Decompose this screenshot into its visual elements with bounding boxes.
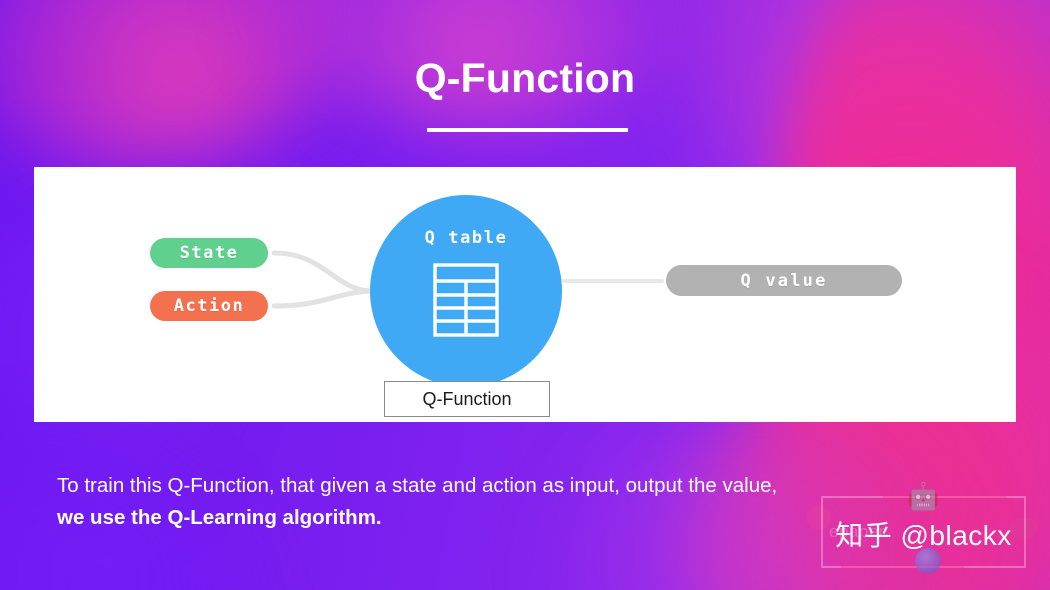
q-function-caption-label: Q-Function — [422, 389, 511, 410]
action-pill-label: Action — [174, 296, 244, 316]
state-pill[interactable]: State — [150, 238, 268, 268]
title-underline — [427, 128, 628, 132]
action-pill[interactable]: Action — [150, 291, 268, 321]
connector-action-to-qtable — [274, 291, 370, 306]
watermark-text: 知乎 @blackx — [821, 514, 1026, 554]
connector-state-to-qtable — [274, 253, 370, 291]
slide: Q-Function State Action Q table — [0, 0, 1050, 590]
watermark: 🤖 epaper 知乎 @blackx — [821, 496, 1026, 568]
q-table-circle[interactable]: Q table — [370, 195, 562, 387]
q-value-pill-label: Q value — [740, 271, 827, 291]
page-title: Q-Function — [0, 56, 1050, 101]
table-icon — [432, 262, 500, 338]
q-table-label: Q table — [425, 228, 508, 248]
state-pill-label: State — [180, 243, 239, 263]
q-function-caption-box[interactable]: Q-Function — [384, 381, 550, 417]
q-value-pill[interactable]: Q value — [666, 265, 902, 296]
robot-icon: 🤖 — [907, 483, 939, 509]
